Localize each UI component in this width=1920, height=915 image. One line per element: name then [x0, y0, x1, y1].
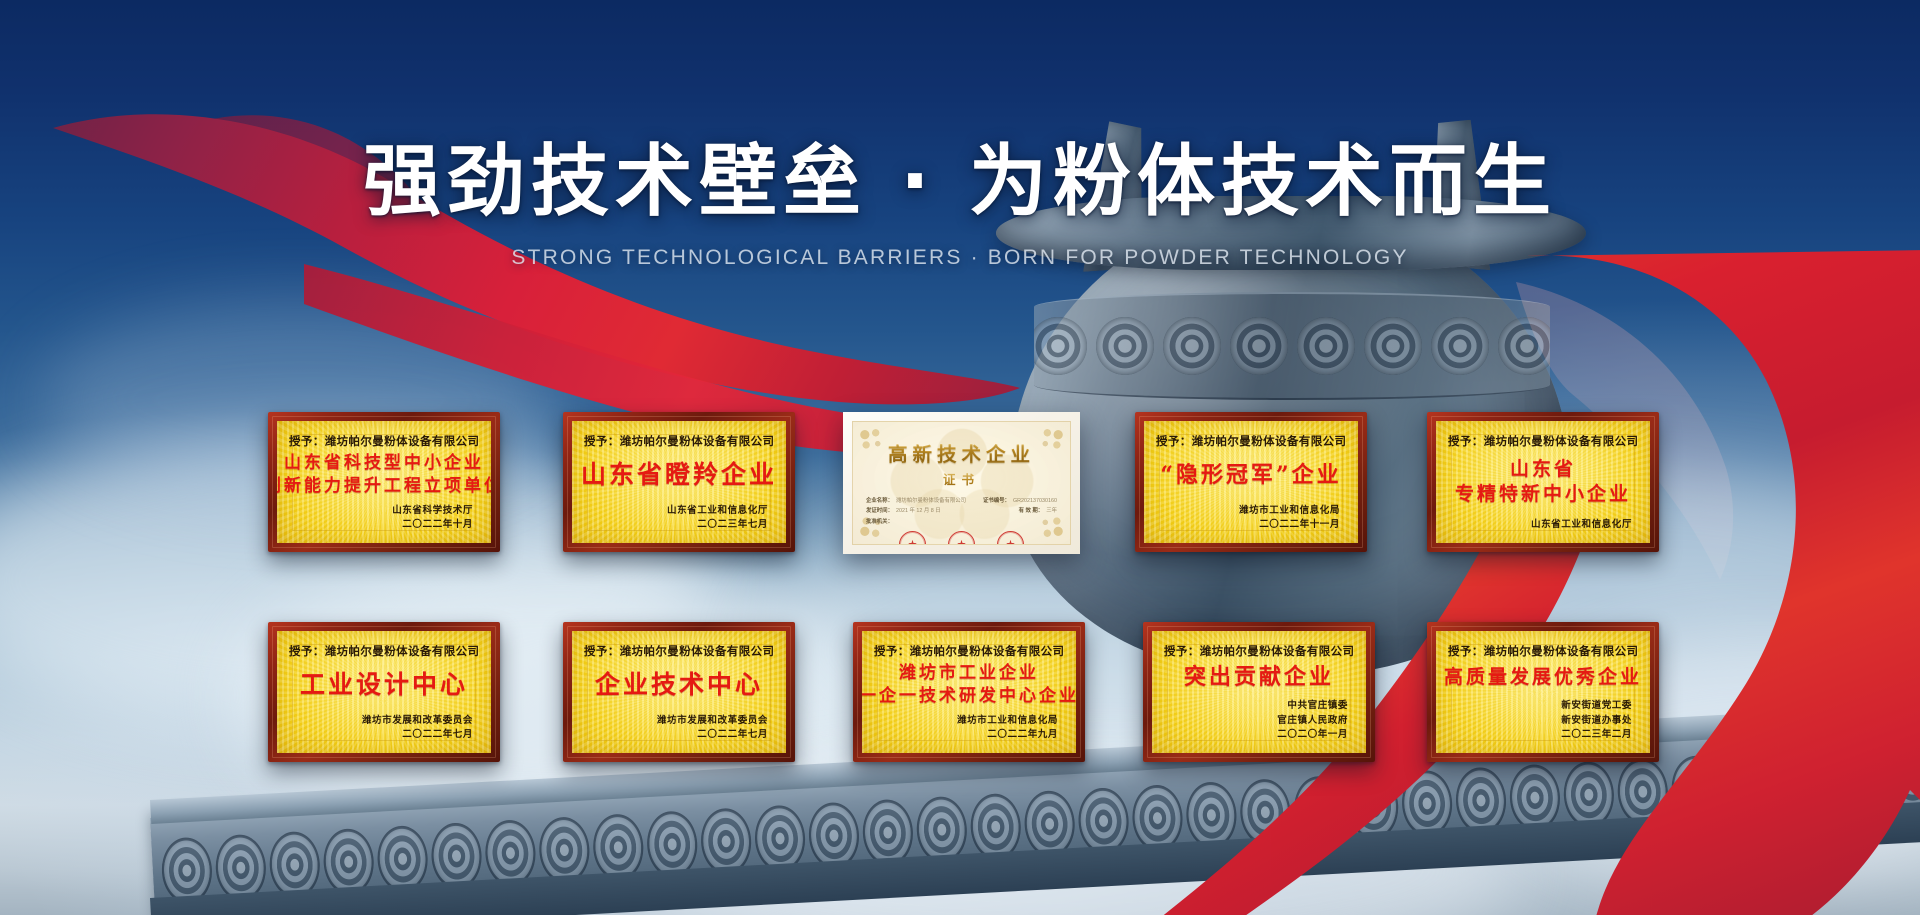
- plaque-issuer-line: 新安街道办事处: [1448, 714, 1632, 729]
- plaque-title-line: 专精特新中小企业: [1455, 484, 1631, 506]
- plaque-title-line: 山东省科技型中小企业: [284, 454, 484, 473]
- certificate-field-value: GR202137030160: [1013, 496, 1057, 506]
- seal-star-icon: [908, 540, 917, 545]
- plaque-issuer-line: 潍坊市发展和改革委员会: [584, 714, 768, 729]
- plaque-plate: 授予：潍坊帕尔曼粉体设备有限公司山东省科技型中小企业创新能力提升工程立项单位山东…: [277, 421, 491, 543]
- plaque-issuer-line: 二〇二二年九月: [874, 728, 1058, 743]
- plaque-title: 突出贡献企业: [1164, 659, 1354, 699]
- plaque-plate: 授予：潍坊帕尔曼粉体设备有限公司高质量发展优秀企业新安街道党工委新安街道办事处二…: [1436, 631, 1650, 753]
- plaque-title: 山东省科技型中小企业创新能力提升工程立项单位: [289, 449, 479, 504]
- certificate-field-key: 企业名称：: [866, 496, 893, 506]
- award-plaque-shandong-gazelle-enterprise[interactable]: 授予：潍坊帕尔曼粉体设备有限公司山东省瞪羚企业山东省工业和信息化厅二〇二三年七月: [563, 412, 795, 552]
- certificate-field-value: 2021 年 12 月 8 日: [896, 506, 941, 516]
- plaque-issuer-line: 官庄镇人民政府: [1164, 714, 1348, 729]
- certificate-subtitle: 证书: [943, 469, 980, 488]
- award-plaque-hidden-champion-enterprise[interactable]: 授予：潍坊帕尔曼粉体设备有限公司“隐形冠军”企业潍坊市工业和信息化局二〇二二年十…: [1135, 412, 1367, 552]
- certificate-corner-ornament-icon: [858, 427, 892, 459]
- certificate-field-key: 证书编号：: [983, 496, 1010, 506]
- plaque-title-line: 山东省瞪羚企业: [581, 461, 777, 490]
- plaque-plate: 授予：潍坊帕尔曼粉体设备有限公司山东省瞪羚企业山东省工业和信息化厅二〇二三年七月: [572, 421, 786, 543]
- award-plaque-shandong-specialized-new-sme[interactable]: 授予：潍坊帕尔曼粉体设备有限公司山东省专精特新中小企业山东省工业和信息化厅: [1427, 412, 1659, 552]
- plaque-title: 山东省瞪羚企业: [584, 449, 774, 504]
- plaque-title-line: 潍坊市工业企业: [899, 664, 1039, 683]
- seal-star-icon: [1006, 540, 1015, 545]
- plaque-issuer: 潍坊市发展和改革委员会二〇二二年七月: [584, 714, 774, 745]
- certificate-field-row: 企业名称：潍坊帕尔曼粉体设备有限公司证书编号：GR202137030160: [866, 496, 1057, 506]
- plaque-award-recipient: 授予：潍坊帕尔曼粉体设备有限公司: [1448, 433, 1638, 449]
- plaque-title-line: 工业设计中心: [300, 671, 468, 700]
- certificate-field-value: 潍坊帕尔曼粉体设备有限公司: [896, 496, 966, 506]
- award-plaque-industrial-design-center[interactable]: 授予：潍坊帕尔曼粉体设备有限公司工业设计中心潍坊市发展和改革委员会二〇二二年七月: [268, 622, 500, 762]
- plaque-plate: 授予：潍坊帕尔曼粉体设备有限公司“隐形冠军”企业潍坊市工业和信息化局二〇二二年十…: [1144, 421, 1358, 543]
- certificate-corner-ornament-icon: [1031, 427, 1065, 459]
- plaque-plate: 授予：潍坊帕尔曼粉体设备有限公司潍坊市工业企业一企一技术研发中心企业潍坊市工业和…: [862, 631, 1076, 753]
- plaque-title-line: 企业技术中心: [595, 671, 763, 700]
- plaque-title-line: “隐形冠军”企业: [1160, 463, 1341, 488]
- certificate-field-value: 三年: [1046, 506, 1057, 516]
- award-plaque-outstanding-contribution-enterprise[interactable]: 授予：潍坊帕尔曼粉体设备有限公司突出贡献企业中共官庄镇委官庄镇人民政府二〇二〇年…: [1143, 622, 1375, 762]
- certificate-field-row: 发证时间：2021 年 12 月 8 日有 效 期：三年: [866, 506, 1057, 516]
- plaque-issuer-line: 二〇二三年七月: [584, 518, 768, 533]
- plaque-title-line: 高质量发展优秀企业: [1444, 667, 1642, 689]
- certificate-field-key: 有 效 期：: [1019, 506, 1044, 516]
- plaque-issuer: 新安街道党工委新安街道办事处二〇二三年二月: [1448, 699, 1638, 745]
- certificate-seals: [853, 531, 1070, 545]
- official-seal-icon: [899, 531, 926, 545]
- certificate-title: 高新技术企业: [888, 438, 1035, 467]
- plaque-plate: 授予：潍坊帕尔曼粉体设备有限公司工业设计中心潍坊市发展和改革委员会二〇二二年七月: [277, 631, 491, 753]
- plaque-issuer: 山东省科学技术厅二〇二二年十月: [289, 504, 479, 535]
- plaque-title-line: 突出贡献企业: [1184, 665, 1334, 690]
- plaque-award-recipient: 授予：潍坊帕尔曼粉体设备有限公司: [584, 433, 774, 449]
- award-plaque-shandong-sci-tech-sme[interactable]: 授予：潍坊帕尔曼粉体设备有限公司山东省科技型中小企业创新能力提升工程立项单位山东…: [268, 412, 500, 552]
- official-seal-icon: [948, 531, 975, 545]
- plaque-award-recipient: 授予：潍坊帕尔曼粉体设备有限公司: [1164, 643, 1354, 659]
- plaque-issuer: 山东省工业和信息化厅二〇二三年七月: [584, 504, 774, 535]
- plaque-award-recipient: 授予：潍坊帕尔曼粉体设备有限公司: [1156, 433, 1346, 449]
- award-plaque-weifang-one-enterprise-one-tech-rd-center[interactable]: 授予：潍坊帕尔曼粉体设备有限公司潍坊市工业企业一企一技术研发中心企业潍坊市工业和…: [853, 622, 1085, 762]
- plaque-issuer: 潍坊市发展和改革委员会二〇二二年七月: [289, 714, 479, 745]
- plaque-title-line: 山东省: [1510, 459, 1576, 481]
- plaque-issuer-line: 二〇二二年七月: [289, 728, 473, 743]
- certificate-field-key: 发证时间：: [866, 506, 893, 516]
- award-plaque-enterprise-technology-center[interactable]: 授予：潍坊帕尔曼粉体设备有限公司企业技术中心潍坊市发展和改革委员会二〇二二年七月: [563, 622, 795, 762]
- plaque-award-recipient: 授予：潍坊帕尔曼粉体设备有限公司: [1448, 643, 1638, 659]
- plaque-issuer-line: 二〇二二年十月: [289, 518, 473, 533]
- plaque-plate: 授予：潍坊帕尔曼粉体设备有限公司突出贡献企业中共官庄镇委官庄镇人民政府二〇二〇年…: [1152, 631, 1366, 753]
- plaque-title: 工业设计中心: [289, 659, 479, 714]
- plaque-title: 企业技术中心: [584, 659, 774, 714]
- certificate-fields: 企业名称：潍坊帕尔曼粉体设备有限公司证书编号：GR202137030160发证时…: [853, 496, 1070, 527]
- plaque-issuer-line: 潍坊市发展和改革委员会: [289, 714, 473, 729]
- plaque-issuer-line: 新安街道党工委: [1448, 699, 1632, 714]
- plaque-plate: 授予：潍坊帕尔曼粉体设备有限公司企业技术中心潍坊市发展和改革委员会二〇二二年七月: [572, 631, 786, 753]
- seal-star-icon: [957, 540, 966, 545]
- certificate-field-key: 批准机关：: [866, 517, 893, 527]
- certificate-high-tech-enterprise-certificate[interactable]: 高新技术企业证书企业名称：潍坊帕尔曼粉体设备有限公司证书编号：GR2021370…: [843, 412, 1080, 554]
- hero-banner: 强劲技术壁垒 · 为粉体技术而生 STRONG TECHNOLOGICAL BA…: [0, 0, 1920, 915]
- plaque-issuer-line: 二〇二三年二月: [1448, 728, 1632, 743]
- plaque-issuer-line: 二〇二二年七月: [584, 728, 768, 743]
- award-gallery: 授予：潍坊帕尔曼粉体设备有限公司山东省科技型中小企业创新能力提升工程立项单位山东…: [0, 0, 1920, 915]
- plaque-plate: 授予：潍坊帕尔曼粉体设备有限公司山东省专精特新中小企业山东省工业和信息化厅: [1436, 421, 1650, 543]
- plaque-issuer-line: 山东省工业和信息化厅: [1448, 518, 1632, 533]
- certificate-field-row: 批准机关：: [866, 517, 1057, 527]
- plaque-title: 高质量发展优秀企业: [1448, 659, 1638, 699]
- plaque-issuer-line: 山东省科学技术厅: [289, 504, 473, 519]
- plaque-title: “隐形冠军”企业: [1156, 449, 1346, 504]
- plaque-issuer-line: 山东省工业和信息化厅: [584, 504, 768, 519]
- plaque-issuer: 潍坊市工业和信息化局二〇二二年九月: [874, 714, 1064, 745]
- plaque-title: 潍坊市工业企业一企一技术研发中心企业: [874, 659, 1064, 714]
- plaque-award-recipient: 授予：潍坊帕尔曼粉体设备有限公司: [874, 643, 1064, 659]
- plaque-title: 山东省专精特新中小企业: [1448, 449, 1638, 518]
- award-plaque-high-quality-development-excellent-enterprise[interactable]: 授予：潍坊帕尔曼粉体设备有限公司高质量发展优秀企业新安街道党工委新安街道办事处二…: [1427, 622, 1659, 762]
- official-seal-icon: [997, 531, 1024, 545]
- plaque-issuer: 潍坊市工业和信息化局二〇二二年十一月: [1156, 504, 1346, 535]
- plaque-issuer-line: 二〇二〇年一月: [1164, 728, 1348, 743]
- plaque-award-recipient: 授予：潍坊帕尔曼粉体设备有限公司: [289, 433, 479, 449]
- plaque-award-recipient: 授予：潍坊帕尔曼粉体设备有限公司: [289, 643, 479, 659]
- plaque-issuer-line: 潍坊市工业和信息化局: [874, 714, 1058, 729]
- plaque-issuer-line: 潍坊市工业和信息化局: [1156, 504, 1340, 519]
- plaque-issuer: 中共官庄镇委官庄镇人民政府二〇二〇年一月: [1164, 699, 1354, 745]
- plaque-issuer: 山东省工业和信息化厅: [1448, 518, 1638, 535]
- plaque-issuer-line: 中共官庄镇委: [1164, 699, 1348, 714]
- certificate-inner: 高新技术企业证书企业名称：潍坊帕尔曼粉体设备有限公司证书编号：GR2021370…: [852, 421, 1071, 545]
- plaque-title-line: 创新能力提升工程立项单位: [277, 477, 491, 496]
- plaque-award-recipient: 授予：潍坊帕尔曼粉体设备有限公司: [584, 643, 774, 659]
- plaque-issuer-line: 二〇二二年十一月: [1156, 518, 1340, 533]
- plaque-title-line: 一企一技术研发中心企业: [862, 687, 1076, 706]
